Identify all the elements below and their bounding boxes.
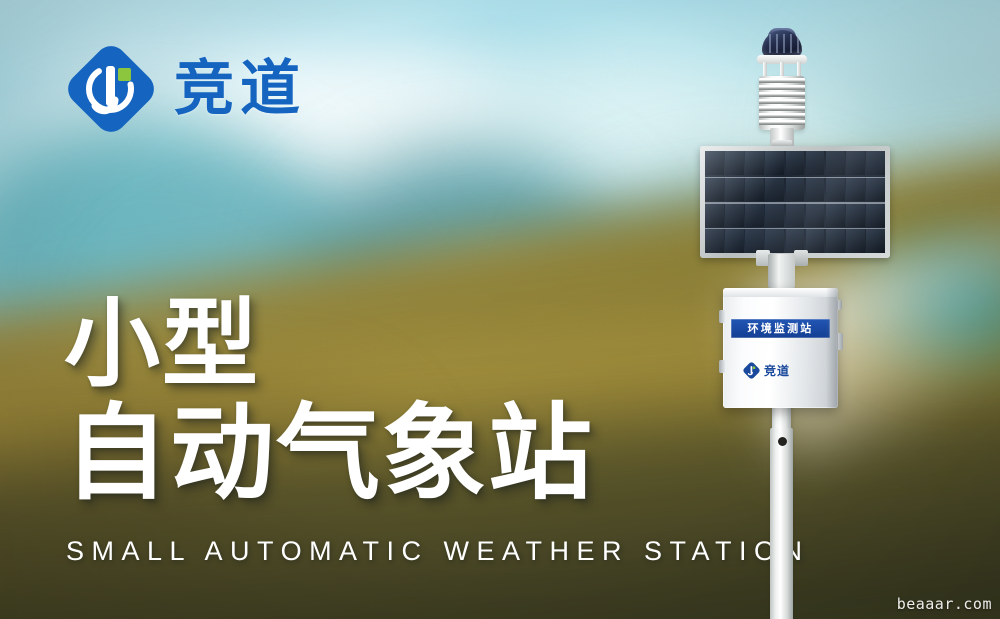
solar-cell — [725, 151, 744, 175]
panel-bracket-plate — [794, 250, 808, 266]
solar-panel — [700, 146, 890, 258]
solar-cell — [826, 151, 845, 175]
headline-line-2: 自动气象站 — [64, 400, 594, 506]
solar-cell — [745, 203, 764, 227]
solar-panel-frame — [700, 146, 890, 258]
enclosure-logo-text: 竞道 — [764, 365, 790, 377]
solar-cell — [866, 203, 885, 227]
enclosure-banner-text: 环境监测站 — [748, 323, 814, 334]
enclosure-side-shading — [826, 288, 838, 408]
solar-cell — [826, 229, 845, 253]
solar-cell — [866, 151, 885, 175]
solar-cell — [866, 177, 885, 201]
ultrasonic-weather-sensor — [748, 28, 816, 150]
controller-enclosure: 环境监测站 竞道 — [723, 288, 838, 408]
solar-cell — [806, 177, 825, 201]
solar-cell — [806, 151, 825, 175]
enclosure-hinge — [719, 310, 725, 323]
solar-cell — [846, 229, 865, 253]
solar-cell — [866, 229, 885, 253]
solar-cell — [705, 177, 724, 201]
panel-mount-bracket — [768, 254, 795, 288]
solar-cell — [846, 151, 865, 175]
solar-cell — [725, 203, 744, 227]
solar-cell — [846, 203, 865, 227]
enclosure-banner: 环境监测站 — [731, 319, 830, 338]
solar-cell — [705, 151, 724, 175]
solar-cell — [765, 177, 784, 201]
solar-cell — [745, 177, 764, 201]
solar-cell — [786, 203, 805, 227]
headline-block: 小型 自动气象站 — [64, 296, 594, 506]
jingdao-diamond-logo-icon — [66, 44, 156, 134]
jingdao-diamond-logo-icon — [743, 362, 760, 379]
solar-busbar — [705, 202, 885, 204]
solar-cell — [806, 203, 825, 227]
weather-station-device: 环境监测站 竞道 — [690, 28, 900, 619]
solar-cell — [806, 229, 825, 253]
enclosure-hinge — [719, 360, 725, 373]
solar-cell — [765, 151, 784, 175]
solar-panel-cells — [705, 151, 885, 253]
solar-cell — [786, 151, 805, 175]
radiation-shield — [759, 76, 805, 130]
promotional-banner: 竞道 小型 自动气象站 SMALL AUTOMATIC WEATHER STAT… — [0, 0, 1000, 619]
mounting-pole-lower — [770, 428, 793, 619]
solar-busbar — [705, 228, 885, 230]
solar-cell — [765, 203, 784, 227]
solar-cell — [846, 177, 865, 201]
solar-cell — [826, 203, 845, 227]
solar-cell — [826, 177, 845, 201]
solar-busbar — [705, 177, 885, 179]
solar-cell — [725, 177, 744, 201]
pole-bolt — [778, 437, 787, 446]
solar-cell — [786, 177, 805, 201]
enclosure-logo: 竞道 — [743, 362, 790, 379]
headline-line-1: 小型 — [64, 296, 594, 394]
solar-cell — [705, 229, 724, 253]
enclosure-top-edge — [723, 288, 838, 297]
sensor-dome-icon — [762, 30, 802, 57]
brand-logo: 竞道 — [66, 44, 306, 134]
watermark: beaaar.com — [897, 595, 992, 613]
solar-cell — [705, 203, 724, 227]
solar-cell — [745, 151, 764, 175]
brand-name: 竞道 — [174, 59, 306, 119]
solar-cell — [725, 229, 744, 253]
